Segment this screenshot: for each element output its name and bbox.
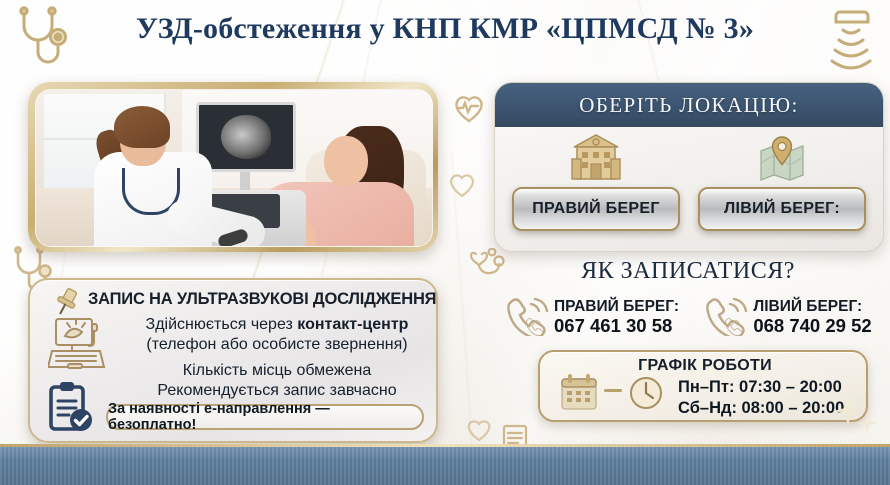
schedule-row-weekend: Сб–Нд: 08:00 – 20:00 <box>678 399 844 418</box>
free-referral-badge: За наявності е-направлення — безоплатно! <box>106 404 424 430</box>
poster-root: УЗД-обстеження у КНП КМР «ЦПМСД № 3» <box>0 0 890 485</box>
photo-image <box>35 89 433 247</box>
info-line-3: Кількість місць обмежена <box>122 362 432 380</box>
phone-contacts: ПРАВИЙ БЕРЕГ: 067 461 30 58 ЛІВИЙ БЕРЕГ:… <box>494 292 886 342</box>
booking-title: ЯК ЗАПИСАТИСЯ? <box>494 258 882 285</box>
clock-icon <box>626 372 666 417</box>
booking-info-card: ЗАПИС НА УЛЬТРАЗВУКОВІ ДОСЛІДЖЕННЯ Здійс… <box>28 278 438 443</box>
schedule-card: ГРАФІК РОБОТИ Пн–Пт: 07:30 – 20:00 Сб–Нд… <box>538 350 868 422</box>
phone-number[interactable]: 067 461 30 58 <box>554 315 672 336</box>
location-panel: ОБЕРІТЬ ЛОКАЦІЮ: <box>494 82 884 252</box>
header: УЗД-обстеження у КНП КМР «ЦПМСД № 3» <box>0 0 890 72</box>
building-icon <box>503 131 689 185</box>
marble-vein <box>450 150 475 479</box>
divider <box>604 389 622 392</box>
location-options: ПРАВИЙ БЕРЕГ ЛІВИЙ БЕРЕГ: <box>495 127 883 251</box>
info-line-2: (телефон або особисте звернення) <box>122 336 432 354</box>
info-heading: ЗАПИС НА УЛЬТРАЗВУКОВІ ДОСЛІДЖЕННЯ <box>88 290 436 309</box>
map-pin-icon <box>689 131 875 185</box>
clipboard-check-icon <box>42 380 98 441</box>
heart-pulse-icon <box>448 172 476 203</box>
schedule-row-weekday: Пн–Пт: 07:30 – 20:00 <box>678 378 842 397</box>
heart-pulse-icon <box>466 418 492 447</box>
location-option-left-bank[interactable]: ЛІВИЙ БЕРЕГ: <box>689 131 875 231</box>
heart-pulse-icon <box>452 92 486 129</box>
location-option-right-bank[interactable]: ПРАВИЙ БЕРЕГ <box>503 131 689 231</box>
phone-contact-right-bank[interactable]: ПРАВИЙ БЕРЕГ: 067 461 30 58 <box>494 292 690 342</box>
ultrasound-photo <box>28 82 438 252</box>
info-line-4: Рекомендується запис завчасно <box>122 382 432 400</box>
location-button-left-bank[interactable]: ЛІВИЙ БЕРЕГ: <box>698 187 866 231</box>
phone-number[interactable]: 068 740 29 52 <box>753 315 871 336</box>
calendar-icon <box>558 372 600 417</box>
location-button-right-bank[interactable]: ПРАВИЙ БЕРЕГ <box>512 187 680 231</box>
phone-label: ПРАВИЙ БЕРЕГ: <box>554 298 679 315</box>
phone-ring-icon <box>704 294 748 341</box>
phone-ring-icon <box>505 294 549 341</box>
location-panel-header: ОБЕРІТЬ ЛОКАЦІЮ: <box>495 83 883 127</box>
page-title: УЗД-обстеження у КНП КМР «ЦПМСД № 3» <box>0 12 890 46</box>
phone-label: ЛІВИЙ БЕРЕГ: <box>753 298 862 315</box>
phone-contact-left-bank[interactable]: ЛІВИЙ БЕРЕГ: 068 740 29 52 <box>690 292 886 342</box>
ultrasound-machine-icon <box>48 316 110 379</box>
footer-bar <box>0 444 890 485</box>
info-line-1: Здійснюється через контакт-центр <box>122 316 432 334</box>
